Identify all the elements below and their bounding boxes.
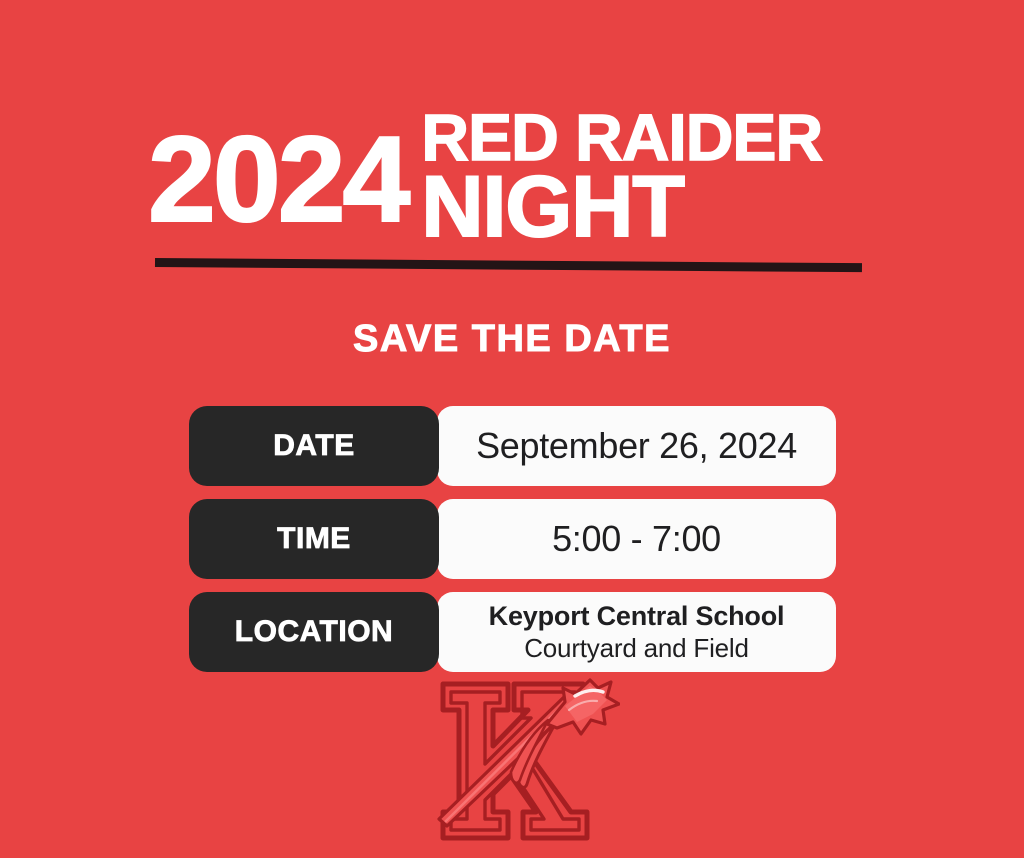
detail-value-time: 5:00 - 7:00 <box>437 499 836 579</box>
detail-value-location-school: Keyport Central School <box>489 601 785 632</box>
event-year: 2024 <box>148 118 407 240</box>
k-spear-logo-icon <box>415 672 620 858</box>
detail-value-location: Keyport Central School Courtyard and Fie… <box>437 592 836 672</box>
red-raider-night-flyer: 2024 RED RAIDER NIGHT SAVE THE DATE Sept… <box>0 0 1024 858</box>
detail-label-date: DATE <box>189 406 439 486</box>
detail-label-time: TIME <box>189 499 439 579</box>
flyer-title-block: 2024 RED RAIDER NIGHT <box>0 100 1024 260</box>
title-divider-rule <box>155 258 862 272</box>
save-the-date-heading: SAVE THE DATE <box>0 318 1024 361</box>
detail-row-date: September 26, 2024 DATE <box>189 406 836 486</box>
detail-row-location: Keyport Central School Courtyard and Fie… <box>189 592 836 672</box>
detail-row-time: 5:00 - 7:00 TIME <box>189 499 836 579</box>
keyport-red-raiders-logo <box>415 672 620 858</box>
detail-value-date: September 26, 2024 <box>437 406 836 486</box>
detail-label-location: LOCATION <box>189 592 439 672</box>
event-title-line-2: NIGHT <box>421 167 822 248</box>
flyer-title-row: 2024 RED RAIDER NIGHT <box>148 100 878 255</box>
detail-value-time-text: 5:00 - 7:00 <box>552 518 721 560</box>
event-details-list: September 26, 2024 DATE 5:00 - 7:00 TIME… <box>189 406 836 685</box>
detail-value-date-text: September 26, 2024 <box>476 425 797 467</box>
detail-value-location-area: Courtyard and Field <box>524 633 749 664</box>
event-name-stack: RED RAIDER NIGHT <box>421 106 822 248</box>
